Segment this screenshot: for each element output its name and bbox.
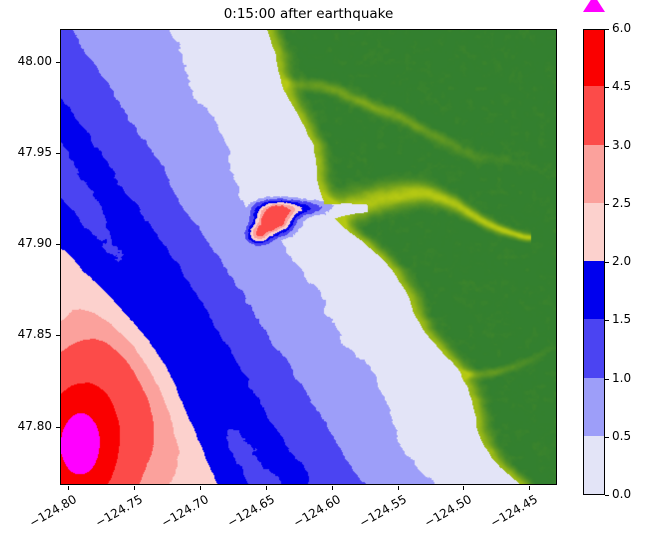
- y-tick-label: 47.85: [2, 327, 52, 341]
- x-tick-label: −124.80: [22, 492, 79, 533]
- x-tick-label: −124.70: [154, 492, 211, 533]
- x-tick-label: −124.75: [88, 492, 145, 533]
- colorbar-tick: [605, 437, 609, 438]
- x-tick: [200, 486, 201, 490]
- colorbar-segment: [584, 260, 604, 319]
- colorbar-over-arrow: [583, 12, 605, 29]
- colorbar-tick: [605, 87, 609, 88]
- y-tick: [56, 244, 60, 245]
- colorbar-body: [583, 29, 605, 495]
- x-tick-label: −124.55: [351, 492, 408, 533]
- colorbar-segment: [584, 29, 604, 86]
- y-tick: [56, 427, 60, 428]
- colorbar-segment: [584, 377, 604, 436]
- colorbar-tick-label: 4.5: [612, 79, 631, 93]
- y-tick-label: 47.95: [2, 145, 52, 159]
- plot-title: 0:15:00 after earthquake: [60, 6, 557, 22]
- x-tick-label: −124.65: [220, 492, 277, 533]
- colorbar-tick-label: 0.5: [612, 429, 631, 443]
- x-tick: [463, 486, 464, 490]
- colorbar-tick: [605, 379, 609, 380]
- colorbar-tick: [605, 29, 609, 30]
- colorbar-tick: [605, 262, 609, 263]
- colorbar-tick-label: 1.0: [612, 371, 631, 385]
- x-tick: [332, 486, 333, 490]
- y-tick-label: 48.00: [2, 54, 52, 68]
- colorbar-tick: [605, 204, 609, 205]
- x-tick: [529, 486, 530, 490]
- x-tick: [398, 486, 399, 490]
- x-tick: [134, 486, 135, 490]
- colorbar-tick: [605, 146, 609, 147]
- map-axes: [60, 29, 557, 485]
- colorbar-segment: [584, 86, 604, 145]
- colorbar-tick-label: 1.5: [612, 312, 631, 326]
- colorbar-segment: [584, 202, 604, 261]
- colorbar-tick-label: 2.5: [612, 196, 631, 210]
- y-tick: [56, 62, 60, 63]
- x-tick-label: −124.45: [483, 492, 540, 533]
- y-tick-label: 47.80: [2, 419, 52, 433]
- colorbar-tick-label: 3.0: [612, 138, 631, 152]
- x-tick-label: −124.50: [417, 492, 474, 533]
- colorbar-segment: [584, 144, 604, 203]
- colorbar-segment: [584, 435, 604, 494]
- colorbar: [583, 29, 605, 495]
- colorbar-segment: [584, 319, 604, 378]
- figure-root: 0:15:00 after earthquake −124.80−124.75−…: [0, 0, 651, 541]
- y-tick-label: 47.90: [2, 236, 52, 250]
- colorbar-tick: [605, 320, 609, 321]
- colorbar-tick-label: 0.0: [612, 487, 631, 501]
- x-tick: [68, 486, 69, 490]
- x-tick-label: −124.60: [286, 492, 343, 533]
- colorbar-tick: [605, 495, 609, 496]
- y-tick: [56, 335, 60, 336]
- colorbar-tick-label: 2.0: [612, 254, 631, 268]
- x-tick: [266, 486, 267, 490]
- colorbar-tick-label: 6.0: [612, 21, 631, 35]
- tsunami-inundation-map: [61, 30, 556, 484]
- y-tick: [56, 153, 60, 154]
